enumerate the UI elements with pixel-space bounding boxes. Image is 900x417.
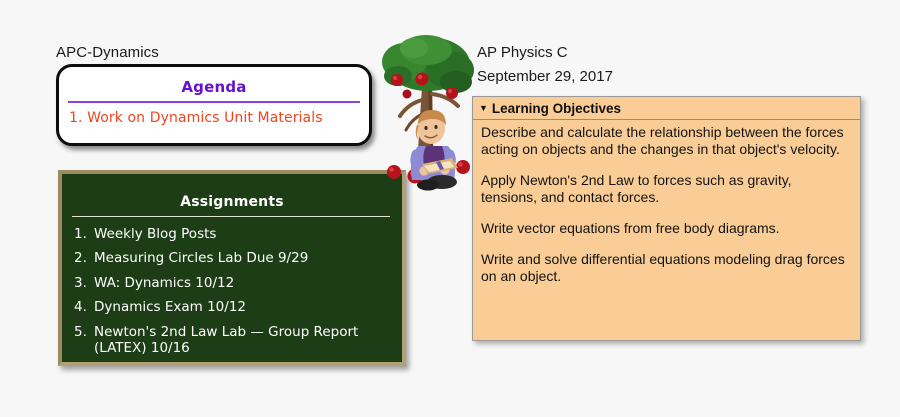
agenda-box: Agenda 1. Work on Dynamics Unit Material… xyxy=(56,64,372,146)
assignments-heading: Assignments xyxy=(62,194,402,210)
objective-paragraph: Describe and calculate the relationship … xyxy=(481,124,850,158)
list-item: 1. Weekly Blog Posts xyxy=(74,226,388,242)
list-item-label: Measuring Circles Lab Due 9/29 xyxy=(94,250,388,266)
agenda-divider xyxy=(68,101,360,103)
list-item-label: Dynamics Exam 10/12 xyxy=(94,299,388,315)
objective-paragraph: Apply Newton's 2nd Law to forces such as… xyxy=(481,172,850,206)
assignments-chalkboard: Assignments 1. Weekly Blog Posts 2. Meas… xyxy=(58,170,406,366)
list-item: 3. WA: Dynamics 10/12 xyxy=(74,275,388,291)
agenda-list: 1. Work on Dynamics Unit Materials xyxy=(69,110,369,126)
assignments-list: 1. Weekly Blog Posts 2. Measuring Circle… xyxy=(62,226,402,357)
triangle-down-icon[interactable]: ▼ xyxy=(479,104,488,113)
objective-paragraph: Write and solve differential equations m… xyxy=(481,251,850,285)
list-item-label: Newton's 2nd Law Lab — Group Report (LAT… xyxy=(94,324,388,357)
class-date: September 29, 2017 xyxy=(477,68,613,85)
list-item-number: 1. xyxy=(74,226,94,242)
list-item: 4. Dynamics Exam 10/12 xyxy=(74,299,388,315)
list-item-label: Weekly Blog Posts xyxy=(94,226,388,242)
slide-canvas: APC-Dynamics Agenda 1. Work on Dynamics … xyxy=(0,0,900,417)
list-item-number: 3. xyxy=(74,275,94,291)
learning-objectives-body: Describe and calculate the relationship … xyxy=(473,120,860,286)
objective-paragraph: Write vector equations from free body di… xyxy=(481,220,850,237)
list-item-label: WA: Dynamics 10/12 xyxy=(94,275,388,291)
assignments-divider xyxy=(72,216,390,217)
list-item: 2. Measuring Circles Lab Due 9/29 xyxy=(74,250,388,266)
learning-objectives-title: Learning Objectives xyxy=(492,101,621,116)
class-name: AP Physics C xyxy=(477,44,568,61)
learning-objectives-panel: ▼ Learning Objectives Describe and calcu… xyxy=(472,96,861,341)
learning-objectives-header[interactable]: ▼ Learning Objectives xyxy=(473,97,860,120)
agenda-heading: Agenda xyxy=(59,78,369,96)
list-item-number: 2. xyxy=(74,250,94,266)
list-item-number: 5. xyxy=(74,324,94,357)
list-item: 5. Newton's 2nd Law Lab — Group Report (… xyxy=(74,324,388,357)
course-title: APC-Dynamics xyxy=(56,44,159,61)
agenda-item: 1. Work on Dynamics Unit Materials xyxy=(69,110,369,126)
newton-under-apple-tree-icon xyxy=(378,30,482,202)
list-item-number: 4. xyxy=(74,299,94,315)
